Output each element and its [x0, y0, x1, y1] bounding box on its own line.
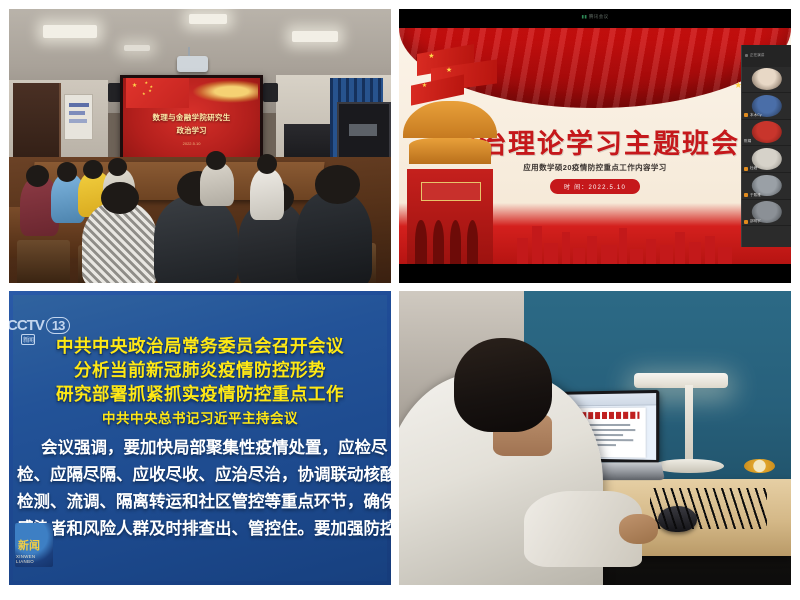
participant-name: 杜峰 — [744, 166, 757, 171]
ceiling-light — [292, 31, 338, 42]
avatar — [751, 68, 781, 90]
ceiling-light — [189, 14, 227, 24]
news-body-line: 检、应隔尽隔、应收尽收、应治尽治，协调联动核酸 — [17, 462, 387, 489]
desk-lamp-head — [634, 373, 728, 388]
channel-number: 13 — [46, 317, 70, 334]
mic-muted-icon — [744, 193, 748, 197]
participant-name-label: 本木Cy — [750, 113, 762, 118]
cables — [650, 488, 768, 529]
attendee — [296, 190, 372, 283]
participant-name: 本木Cy — [744, 113, 762, 118]
photo-collage: ★ ★ ★ ★ ★ 数理与金融学院研究生 政治学习 2022.5.10 — [0, 0, 800, 600]
student-hand — [619, 514, 658, 543]
news-body-line: 会议强调，要加快局部聚集性疫情处置，应检尽 — [17, 435, 387, 462]
avatar — [751, 121, 781, 143]
student-head — [454, 338, 552, 432]
flag-graphic: ★ ★ ★ ★ ★ — [126, 78, 189, 109]
presenter — [250, 168, 284, 220]
slide-stage: ★✦ 政治理论学习主题班会 应用数学硕20疫情防控重点工作内容学习 时 间：20… — [399, 28, 791, 264]
attendee-head — [83, 160, 103, 179]
attendee-head — [315, 165, 361, 203]
news-body-line: 检测、流调、隔离转运和社区管控等重点环节，确保 — [17, 489, 387, 516]
desk-lamp-arm — [685, 385, 693, 464]
news-headline: 研究部署抓紧抓实疫情防控重点工作 — [13, 381, 387, 406]
participants-sidebar[interactable]: 正在演讲 本木Cy 陈娟 — [741, 45, 791, 248]
ceiling-light — [124, 45, 151, 52]
grid-icon — [745, 54, 748, 57]
participant-name-label: 于熙雅 — [750, 193, 761, 198]
participant-tile[interactable]: 本木Cy — [742, 93, 791, 120]
watermark-cn-label: 新闻 — [18, 537, 40, 553]
participant-tile[interactable]: 于熙雅 — [742, 173, 791, 200]
watermark-en-label: XINWEN LIANBO — [16, 554, 53, 564]
attendee-head — [206, 151, 226, 170]
attendee — [154, 195, 238, 283]
news-body-text: 会议强调，要加快局部聚集性疫情处置，应检尽 检、应隔尽隔、应收尽收、应治尽治，协… — [17, 435, 387, 543]
attendee-head — [26, 165, 49, 187]
news-subheadline: 中共中央总书记习近平主持会议 — [13, 407, 387, 427]
cctv-wordmark: CCTV — [9, 317, 44, 334]
cctv13-logo: CCTV 13 新闻 — [9, 317, 70, 334]
screen-title-line1: 数理与金融学院研究生 — [123, 112, 261, 123]
sidebar-header-label: 正在演讲 — [750, 53, 764, 58]
screen-date: 2022.5.10 — [123, 141, 261, 146]
letterbox-bottom — [399, 264, 791, 283]
sidebar-header: 正在演讲 — [742, 45, 791, 67]
chair — [17, 240, 70, 283]
tiananmen-graphic — [403, 94, 497, 264]
ceiling-projector — [177, 56, 208, 72]
news-headline: 中共中央政治局常务委员会召开会议 — [13, 333, 387, 358]
slide-date-badge: 时 间：2022.5.10 — [550, 179, 640, 194]
participant-name: 邵明宇 — [744, 219, 761, 224]
participant-name: 于熙雅 — [744, 193, 761, 198]
cctv-news-broadcast: CCTV 13 新闻 中共中央政治局常务委员会召开会议 分析当前新冠肺炎疫情防控… — [9, 291, 391, 585]
mic-muted-icon — [744, 220, 748, 224]
participant-tile[interactable]: 邵明宇 — [742, 200, 791, 227]
attendee-head — [101, 182, 139, 215]
ppt-slide-online-meeting: ▮▮ 腾讯会议 ★✦ 政治理论学习主题班会 应用数学硕20疫情防控重点工作内容学… — [399, 9, 791, 283]
wall-speaker — [263, 83, 278, 102]
student-studying-at-laptop — [399, 291, 791, 585]
meeting-app-topbar: ▮▮ 腾讯会议 — [399, 9, 791, 28]
participant-name: 陈娟 — [744, 139, 751, 144]
gold-ornament — [192, 80, 258, 104]
xinwen-lianbo-watermark: 新闻 XINWEN LIANBO — [15, 523, 53, 567]
wall-monitor — [337, 102, 391, 164]
participant-tile[interactable] — [742, 67, 791, 94]
screen-title-line2: 政治学习 — [123, 125, 261, 136]
news-body-line: 感染者和风险人群及时排查出、管控住。要加强防控 — [17, 516, 387, 543]
wall-poster — [64, 94, 93, 140]
participant-name-label: 邵明宇 — [750, 219, 761, 224]
participant-tile[interactable]: 杜峰 — [742, 146, 791, 173]
participant-tile[interactable]: 陈娟 — [742, 120, 791, 147]
mic-muted-icon — [744, 113, 748, 117]
participant-name-label: 杜峰 — [750, 166, 757, 171]
ceiling-light — [43, 25, 96, 37]
meeting-app-label: 腾讯会议 — [589, 14, 609, 19]
news-headline: 分析当前新冠肺炎疫情防控形势 — [13, 357, 387, 382]
mic-muted-icon — [744, 167, 748, 171]
meeting-room-photo: ★ ★ ★ ★ ★ 数理与金融学院研究生 政治学习 2022.5.10 — [9, 9, 391, 283]
